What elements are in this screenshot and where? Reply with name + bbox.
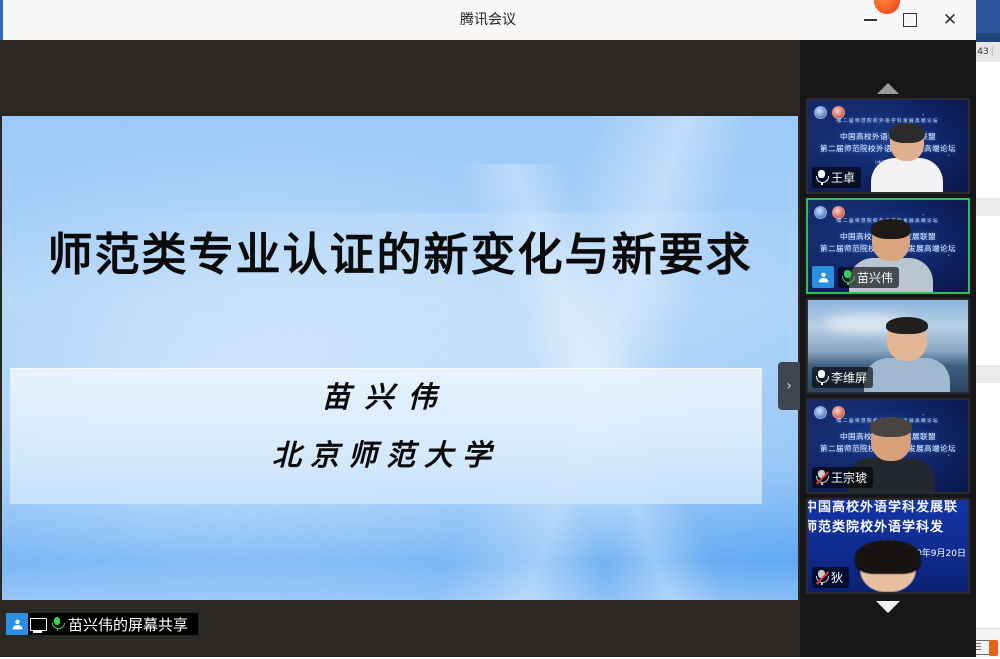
slide-info-panel: 苗兴伟 北京师范大学	[10, 368, 762, 504]
participant-name: 苗兴伟	[857, 269, 893, 286]
microphone-icon	[841, 270, 854, 285]
microphone-icon	[815, 370, 828, 385]
banner-line-1: 中国高校外语学科发展联	[806, 498, 968, 515]
participant-label: 王卓	[812, 167, 861, 188]
participant-tile[interactable]: 第二届师范院校外语学科发展高端论坛 中国高校外语学科发展联盟 第二届师范院校外语…	[806, 198, 970, 294]
participant-label: 王宗琥	[812, 467, 873, 488]
taskbar-orange-app-icon[interactable]	[989, 640, 998, 656]
microphone-muted-icon	[815, 570, 828, 585]
scroll-down-arrow[interactable]	[800, 593, 976, 621]
slide-affiliation: 北京师范大学	[10, 432, 762, 474]
slide-title: 师范类专业认证的新变化与新要求	[2, 218, 798, 283]
participant-label: 苗兴伟	[838, 267, 899, 288]
screen-share-status-bar: 苗兴伟的屏幕共享	[6, 613, 198, 635]
shared-screen-area[interactable]: 师范类专业认证的新变化与新要求 苗兴伟 北京师范大学 › 苗兴伟的屏幕共享	[0, 40, 800, 657]
maximize-icon	[903, 13, 917, 27]
close-icon: ✕	[943, 12, 957, 29]
meeting-window: 腾讯会议 ✕ 师范类专业认证的新变化与新要求 苗兴伟 北京师范大学 ›	[0, 0, 976, 657]
tab-separator-right: |	[991, 47, 994, 57]
microphone-icon	[48, 613, 66, 635]
participant-name: 李维屏	[831, 369, 867, 386]
participant-tile[interactable]: 第二届师范院校外语学科发展高端论坛 中国高校外语学科发展联盟 第二届师范院校外语…	[806, 98, 970, 194]
participant-filmstrip[interactable]: 第二届师范院校外语学科发展高端论坛 中国高校外语学科发展联盟 第二届师范院校外语…	[800, 40, 976, 657]
participant-tiles: 第二届师范院校外语学科发展高端论坛 中国高校外语学科发展联盟 第二届师范院校外语…	[806, 98, 972, 638]
participant-name: 王卓	[831, 169, 855, 186]
maximize-button[interactable]	[890, 0, 930, 40]
minimize-icon	[864, 19, 877, 20]
window-title: 腾讯会议	[0, 0, 976, 40]
participant-video-figure	[864, 317, 950, 392]
banner-line-2: 师范类院校外语学科发	[806, 516, 968, 535]
participant-tile[interactable]: 中国高校外语学科发展联 师范类院校外语学科发 20年9月20日 狄	[806, 498, 970, 594]
background-tab-number: 43	[977, 47, 988, 57]
triangle-up-icon	[877, 83, 899, 94]
screen-share-label: 苗兴伟的屏幕共享	[66, 614, 198, 635]
microphone-muted-icon	[815, 470, 828, 485]
window-title-bar[interactable]: 腾讯会议 ✕	[0, 0, 976, 41]
triangle-down-icon	[876, 601, 900, 613]
participant-video-figure	[860, 540, 916, 592]
person-icon	[6, 613, 28, 635]
window-controls[interactable]: ✕	[850, 0, 970, 40]
participant-tile[interactable]: 李维屏	[806, 298, 970, 394]
participant-tile[interactable]: 第二届师范院校外语学科发展高端论坛 中国高校外语学科发展联盟 第二届师范院校外语…	[806, 398, 970, 494]
participant-video-figure	[871, 123, 943, 192]
participant-name: 狄	[831, 569, 843, 586]
participant-label: 狄	[812, 567, 849, 588]
screen-share-icon	[28, 613, 48, 635]
minimize-button[interactable]	[850, 0, 890, 40]
slide-presenter-name: 苗兴伟	[10, 374, 762, 416]
person-icon	[812, 266, 834, 288]
close-button[interactable]: ✕	[930, 0, 970, 40]
microphone-icon	[815, 170, 828, 185]
chevron-right-icon: ›	[786, 378, 792, 394]
presentation-slide: 师范类专业认证的新变化与新要求 苗兴伟 北京师范大学	[2, 116, 798, 600]
collapse-panel-button[interactable]: ›	[778, 362, 800, 410]
participant-name: 王宗琥	[831, 469, 867, 486]
participant-label: 李维屏	[812, 367, 873, 388]
